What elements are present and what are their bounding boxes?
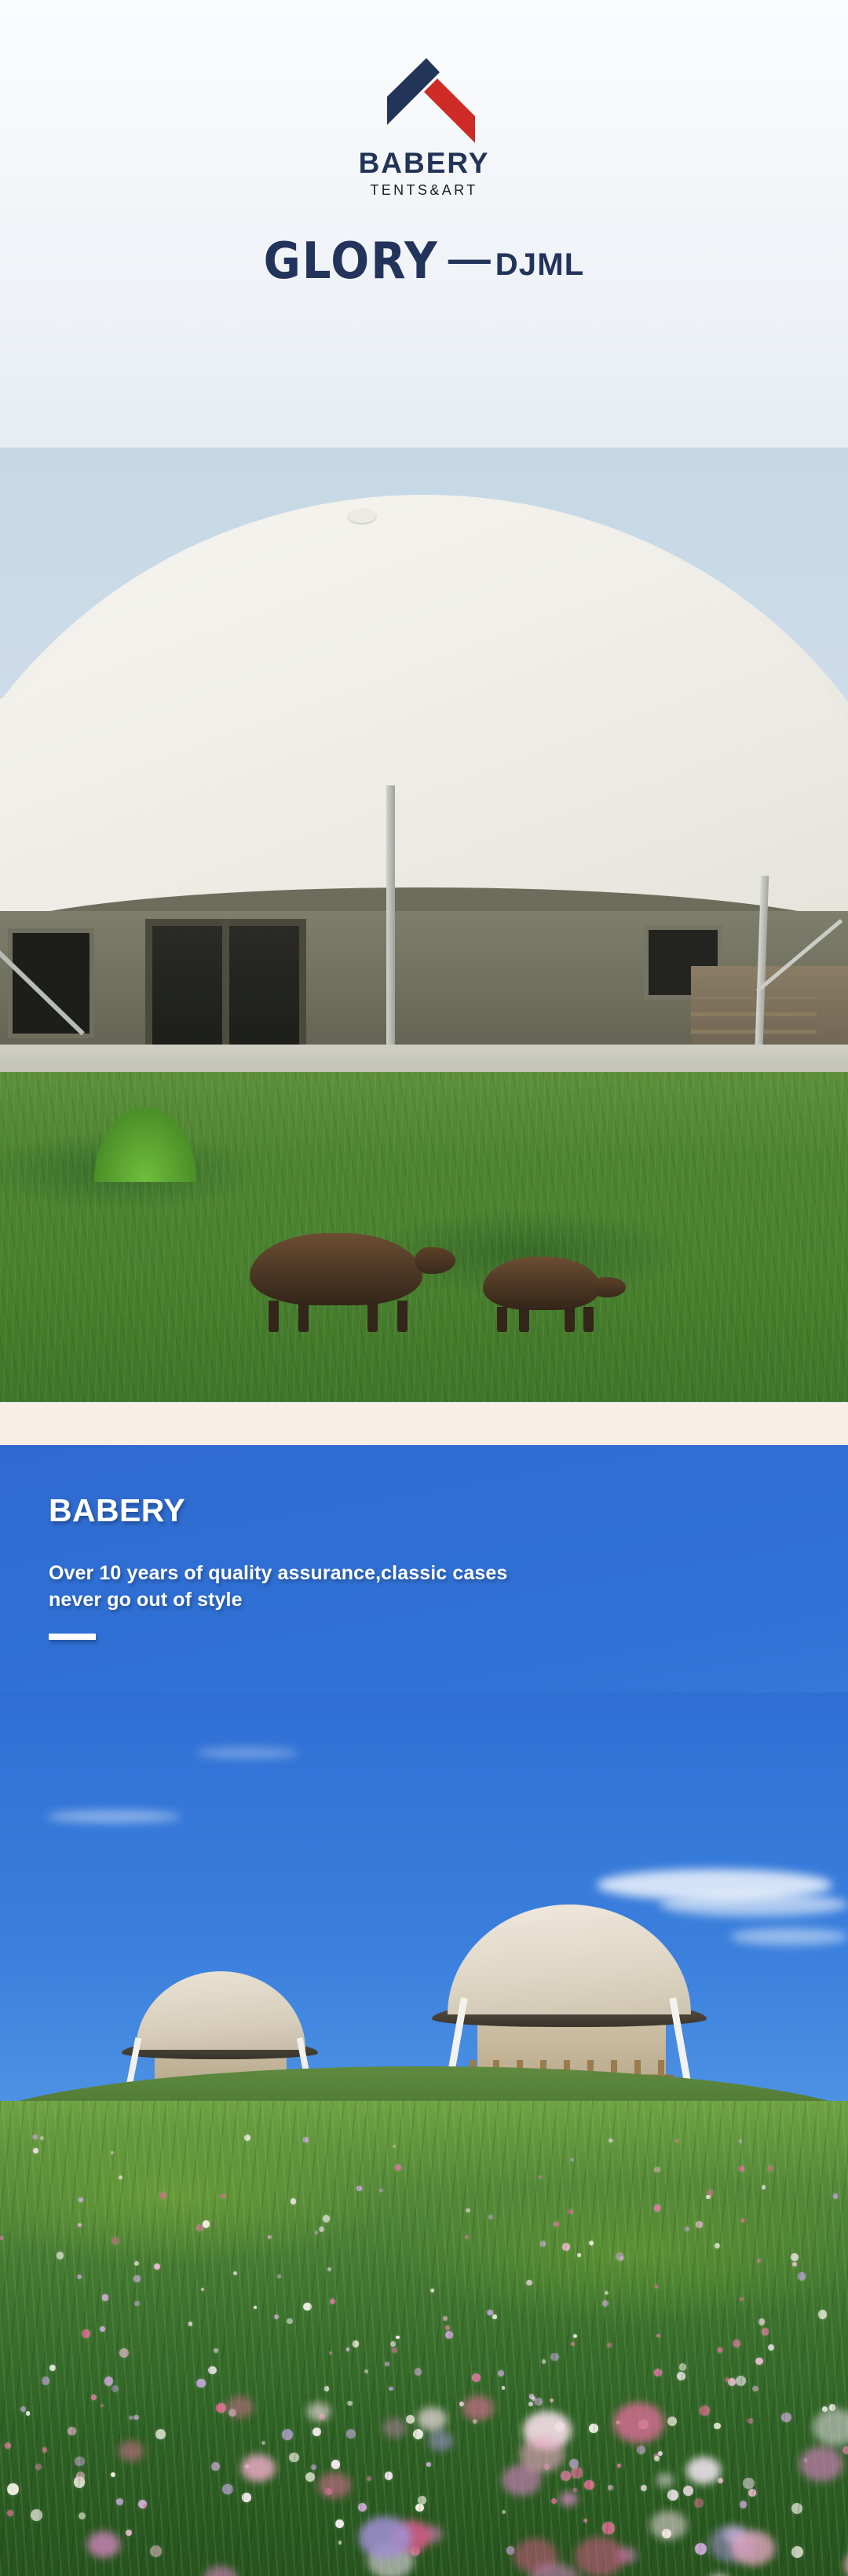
flower xyxy=(49,2365,56,2371)
tent-door-mullion xyxy=(222,919,229,1064)
flower xyxy=(201,2288,204,2291)
flower xyxy=(654,2205,661,2212)
flower xyxy=(395,2164,401,2171)
flower xyxy=(583,2519,587,2523)
flower xyxy=(353,2340,360,2347)
flower xyxy=(150,2545,162,2557)
page-title-dash: — xyxy=(439,236,495,283)
flower xyxy=(718,2347,723,2353)
flower xyxy=(733,2340,740,2347)
cloud xyxy=(730,1928,848,1945)
flower xyxy=(233,2271,237,2275)
flower xyxy=(707,2190,714,2197)
flower xyxy=(443,2316,448,2321)
flower xyxy=(35,2464,42,2470)
flower xyxy=(658,2451,663,2456)
flower xyxy=(330,2299,335,2304)
flower xyxy=(605,2291,609,2296)
promo-subtitle: Over 10 years of quality assurance,class… xyxy=(49,1561,740,1613)
flower xyxy=(762,2185,766,2190)
flower xyxy=(31,2509,42,2521)
flower xyxy=(767,2165,774,2172)
flower xyxy=(465,2235,470,2240)
flower xyxy=(654,2456,660,2461)
tent-right xyxy=(440,1905,699,2077)
flower xyxy=(741,2219,745,2223)
flower xyxy=(329,2351,333,2355)
flower xyxy=(715,2243,720,2249)
flower xyxy=(324,2386,330,2391)
flower xyxy=(119,2175,122,2179)
flower xyxy=(667,2417,677,2426)
flower xyxy=(791,2253,799,2261)
flower xyxy=(319,2227,324,2232)
flower xyxy=(740,2297,744,2301)
flower xyxy=(616,2420,620,2424)
flower xyxy=(367,2476,371,2481)
flower xyxy=(608,2485,613,2490)
flower xyxy=(570,2158,574,2162)
flower xyxy=(584,2480,594,2490)
flower xyxy=(638,2420,648,2429)
flower xyxy=(739,2139,743,2143)
flower xyxy=(291,2198,297,2205)
flower xyxy=(445,2325,450,2330)
flower xyxy=(706,2195,710,2199)
flower xyxy=(159,2192,166,2199)
flower xyxy=(289,2453,298,2462)
flower xyxy=(752,2386,758,2392)
flower xyxy=(550,2353,558,2361)
flower xyxy=(550,2399,554,2402)
flower xyxy=(77,2274,82,2279)
flower xyxy=(607,2343,612,2347)
flower xyxy=(654,2369,662,2377)
flower xyxy=(385,2472,393,2480)
flower xyxy=(133,2415,139,2420)
flower xyxy=(242,2493,251,2502)
flower xyxy=(268,2235,272,2239)
flower xyxy=(528,2402,533,2406)
flower xyxy=(739,2166,744,2172)
flower xyxy=(5,2442,11,2449)
flower xyxy=(762,2328,769,2335)
flower xyxy=(82,2329,90,2338)
flower xyxy=(829,2404,836,2411)
flower xyxy=(843,2446,848,2454)
flower xyxy=(445,2331,453,2339)
flower xyxy=(228,2409,236,2417)
flower xyxy=(589,2241,594,2245)
promo-photo xyxy=(0,1692,848,2576)
flower xyxy=(138,2500,148,2509)
flower xyxy=(602,2522,615,2534)
flower xyxy=(426,2462,431,2467)
flower xyxy=(620,2256,623,2259)
promo-copy: BABERY Over 10 years of quality assuranc… xyxy=(49,1492,755,1640)
promo-heading: BABERY xyxy=(49,1492,755,1529)
flower xyxy=(641,2485,647,2491)
flower xyxy=(101,2404,104,2407)
flower xyxy=(245,2464,250,2469)
flower xyxy=(111,2472,115,2477)
flower xyxy=(791,2503,802,2514)
flower xyxy=(747,2418,753,2424)
flower xyxy=(768,2344,774,2351)
flower xyxy=(804,2458,807,2461)
flower xyxy=(736,2376,746,2386)
flower xyxy=(188,2322,193,2326)
flower xyxy=(757,2259,761,2263)
flower xyxy=(411,2546,420,2556)
promo-underline-mark xyxy=(49,1634,96,1640)
flower xyxy=(413,2429,423,2439)
flower xyxy=(571,2342,575,2346)
wildflower-meadow xyxy=(0,2101,848,2576)
flower xyxy=(216,2403,226,2413)
flower xyxy=(656,2334,660,2338)
flower xyxy=(654,2167,660,2172)
flower xyxy=(282,2429,293,2440)
flower xyxy=(542,2359,546,2364)
flower xyxy=(529,2394,535,2399)
flower xyxy=(822,2406,828,2412)
section-separator-band xyxy=(0,1403,848,1445)
flower xyxy=(315,2231,318,2234)
flower xyxy=(655,2285,658,2288)
flower xyxy=(415,2368,422,2376)
flower xyxy=(393,2145,397,2149)
flower xyxy=(68,2427,76,2435)
flower xyxy=(577,2253,581,2257)
flower xyxy=(57,2252,64,2259)
page-title: GLORY—DJML xyxy=(0,232,848,291)
flower xyxy=(104,2377,114,2386)
grass-tuft xyxy=(94,1107,196,1182)
flower xyxy=(338,2541,342,2544)
flower xyxy=(677,2372,685,2380)
flower xyxy=(244,2135,250,2141)
flower xyxy=(472,2373,481,2382)
flower xyxy=(196,2224,203,2231)
flower xyxy=(562,2243,570,2251)
flower xyxy=(111,2237,119,2245)
hero-photo xyxy=(0,448,848,1402)
flower xyxy=(818,2310,828,2319)
flower xyxy=(743,2478,755,2490)
promo-subtitle-line1: Over 10 years of quality assurance,class… xyxy=(49,1562,507,1584)
flower xyxy=(91,2395,97,2400)
flower xyxy=(42,2447,47,2452)
flower xyxy=(303,2303,311,2311)
page-title-sub: DJML xyxy=(495,247,585,282)
flower xyxy=(573,2334,577,2338)
flower xyxy=(111,2385,119,2392)
flower xyxy=(791,2546,803,2558)
flower xyxy=(544,2464,550,2470)
tent-peak-cap xyxy=(348,509,376,523)
flower xyxy=(134,2261,139,2266)
flower xyxy=(379,2189,383,2193)
flower xyxy=(102,2294,108,2300)
babery-roof-logo-icon xyxy=(349,55,499,145)
flower xyxy=(637,2446,645,2454)
flower xyxy=(154,2263,160,2270)
flower xyxy=(32,2135,37,2139)
logo-tagline: TENTS&ART xyxy=(370,183,477,197)
flower xyxy=(398,2530,410,2541)
flower xyxy=(254,2306,257,2309)
flower xyxy=(274,2314,279,2319)
flower xyxy=(418,2496,426,2505)
flower xyxy=(617,2464,621,2468)
flower xyxy=(571,2467,582,2478)
flower xyxy=(214,2348,218,2353)
flower xyxy=(798,2272,806,2281)
flower xyxy=(7,2510,13,2516)
flower xyxy=(155,2429,166,2439)
flower xyxy=(662,2529,671,2538)
flower xyxy=(134,2301,140,2307)
flower xyxy=(792,2262,797,2267)
flower xyxy=(79,2197,83,2202)
cloud xyxy=(196,1747,298,1758)
flower xyxy=(694,2498,704,2508)
promo-section: BABERY Over 10 years of quality assuranc… xyxy=(0,1445,848,2576)
flower xyxy=(33,2148,38,2153)
flower xyxy=(390,2341,396,2347)
flower xyxy=(75,2457,85,2467)
flower xyxy=(222,2484,232,2494)
flower xyxy=(700,2406,710,2416)
flower xyxy=(320,2413,325,2419)
flower xyxy=(277,2274,281,2278)
flower xyxy=(346,2429,356,2439)
flower xyxy=(203,2220,210,2228)
flower xyxy=(539,2175,542,2179)
flower xyxy=(76,2472,86,2481)
flower xyxy=(488,2215,493,2219)
flower xyxy=(7,2483,19,2495)
logo-brand-name: BABERY xyxy=(359,148,490,177)
flower xyxy=(40,2136,45,2141)
flower xyxy=(466,2208,470,2213)
flower xyxy=(609,2139,613,2143)
cow-small xyxy=(483,1257,601,1310)
flower xyxy=(679,2363,687,2371)
flower xyxy=(305,2472,315,2482)
flower xyxy=(718,2478,724,2484)
flower xyxy=(111,2151,114,2154)
flower xyxy=(498,2370,504,2377)
flower xyxy=(602,2300,609,2307)
flower xyxy=(26,2411,31,2416)
flower xyxy=(211,2462,220,2471)
flower xyxy=(74,2476,86,2488)
flower xyxy=(323,2215,331,2223)
flower xyxy=(143,2504,147,2508)
flower xyxy=(654,2453,659,2458)
flower xyxy=(100,2326,105,2332)
flower xyxy=(415,2504,424,2512)
flower xyxy=(335,2519,344,2528)
flower xyxy=(758,2318,765,2325)
flower xyxy=(303,2137,309,2142)
flower xyxy=(781,2413,791,2422)
flower xyxy=(573,2488,577,2492)
tent-pole-center xyxy=(386,785,395,1068)
flower xyxy=(221,2194,225,2198)
flower xyxy=(755,2358,762,2365)
flower xyxy=(551,2498,557,2504)
flower xyxy=(406,2415,415,2424)
flower xyxy=(696,2221,703,2228)
flower xyxy=(331,2460,340,2468)
flower xyxy=(79,2512,86,2519)
flower xyxy=(313,2428,321,2436)
flower xyxy=(392,2347,397,2353)
flower xyxy=(675,2139,678,2142)
flower xyxy=(554,2222,558,2227)
flower xyxy=(389,2387,393,2391)
flower xyxy=(532,2396,536,2401)
flower xyxy=(502,2386,506,2390)
flower xyxy=(356,2186,362,2191)
flower xyxy=(502,2510,506,2514)
flower xyxy=(133,2275,140,2281)
flower xyxy=(487,2310,493,2316)
flower xyxy=(430,2289,434,2292)
cloud xyxy=(47,1810,181,1823)
flower xyxy=(385,2362,389,2366)
flower xyxy=(833,2194,839,2199)
flower xyxy=(20,2406,26,2412)
flower xyxy=(311,2464,317,2471)
brand-logo: BABERY TENTS&ART xyxy=(0,55,848,197)
flower xyxy=(683,2486,693,2496)
flower xyxy=(728,2378,735,2385)
hero-section: BABERY TENTS&ART GLORY—DJML xyxy=(0,0,848,1406)
flower xyxy=(695,2543,707,2555)
flower xyxy=(540,2241,546,2246)
flower xyxy=(535,2398,543,2406)
flower xyxy=(526,2280,532,2286)
promo-subtitle-line2: never go out of style xyxy=(49,1589,243,1611)
flower xyxy=(119,2348,129,2358)
flower xyxy=(0,2236,3,2239)
flower xyxy=(346,2347,349,2351)
flower xyxy=(569,2459,579,2468)
page-title-main: GLORY xyxy=(264,232,439,291)
flower xyxy=(740,2501,747,2508)
flower xyxy=(685,2227,690,2232)
flower xyxy=(347,2401,353,2406)
flower xyxy=(725,2377,729,2382)
tent-window-left xyxy=(8,928,94,1038)
flower xyxy=(667,2490,678,2501)
flower xyxy=(287,2318,292,2324)
flower xyxy=(568,2209,573,2215)
flower xyxy=(473,2419,477,2424)
flower xyxy=(506,2546,515,2555)
flower xyxy=(208,2366,217,2375)
flower xyxy=(196,2379,205,2388)
flower xyxy=(364,2369,368,2373)
cow-large xyxy=(250,1233,422,1305)
flower xyxy=(459,2402,464,2406)
flower xyxy=(325,2488,332,2495)
flower xyxy=(261,2441,265,2445)
flower xyxy=(129,2416,133,2420)
flower xyxy=(616,2252,624,2261)
flower xyxy=(748,2489,756,2497)
flower xyxy=(327,2267,331,2271)
flower xyxy=(714,2423,721,2430)
flower xyxy=(126,2530,133,2537)
flower xyxy=(589,2424,598,2433)
flower xyxy=(396,2336,400,2340)
flower xyxy=(42,2377,49,2384)
flower xyxy=(116,2498,124,2506)
flower xyxy=(78,2223,81,2227)
flower xyxy=(561,2471,571,2481)
flower xyxy=(358,2503,367,2512)
flower xyxy=(555,2422,565,2432)
flower xyxy=(492,2314,496,2318)
